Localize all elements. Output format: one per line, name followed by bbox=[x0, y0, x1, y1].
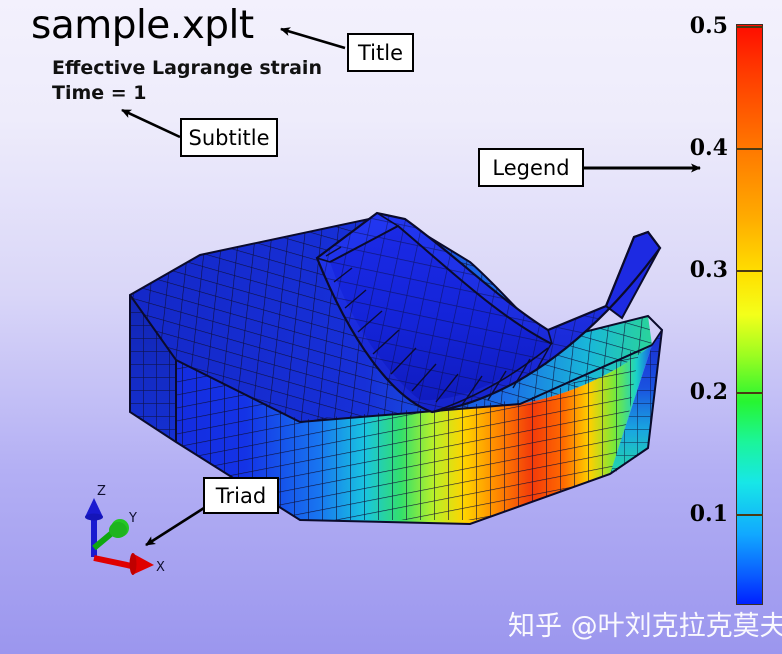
legend-label-0: 0.5 bbox=[676, 13, 728, 39]
callout-subtitle[interactable]: Subtitle bbox=[180, 118, 278, 157]
legend-label-1: 0.4 bbox=[676, 135, 728, 161]
callout-title[interactable]: Title bbox=[347, 33, 414, 72]
legend-label-3: 0.2 bbox=[676, 379, 728, 405]
legend-label-4: 0.1 bbox=[676, 501, 728, 527]
legend-tick-4 bbox=[736, 514, 763, 516]
legend-tick-0 bbox=[736, 26, 763, 28]
triad-label-x: X bbox=[156, 560, 165, 575]
callout-legend[interactable]: Legend bbox=[478, 148, 584, 187]
legend-label-2: 0.3 bbox=[676, 257, 728, 283]
triad-label-y: Y bbox=[128, 511, 137, 526]
page-subtitle: Effective Lagrange strain Time = 1 bbox=[52, 56, 322, 106]
viewport: Z Y X sample.xplt Effective Lagrange str… bbox=[0, 0, 782, 654]
watermark: 知乎 @叶刘克拉克莫夫 bbox=[508, 604, 782, 643]
legend-tick-1 bbox=[736, 148, 763, 150]
page-title: sample.xplt bbox=[31, 3, 254, 49]
callout-triad[interactable]: Triad bbox=[203, 477, 279, 514]
orientation-triad[interactable]: Z Y X bbox=[70, 483, 180, 588]
triad-axis-z bbox=[85, 498, 103, 557]
triad-axis-x bbox=[93, 553, 154, 575]
legend-tick-2 bbox=[736, 270, 763, 272]
triad-label-z: Z bbox=[97, 484, 106, 499]
triad-axis-y bbox=[92, 519, 129, 550]
legend-tick-3 bbox=[736, 392, 763, 394]
color-legend-bar[interactable] bbox=[736, 24, 763, 605]
